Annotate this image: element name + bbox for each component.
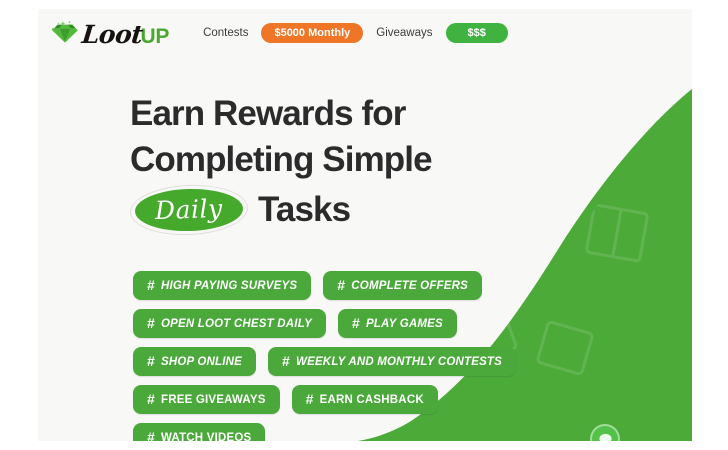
daily-badge: Daily [130,185,248,235]
feature-tag-list: # HIGH PAYING SURVEYS # COMPLETE OFFERS … [133,271,563,441]
nav-link-contests[interactable]: Contests [203,27,248,39]
chat-widget-button[interactable] [590,424,620,441]
tag-weekly-and-monthly-contests[interactable]: # WEEKLY AND MONTHLY CONTESTS [268,347,516,376]
tag-open-loot-chest-daily[interactable]: # OPEN LOOT CHEST DAILY [133,309,326,338]
tag-label: SHOP ONLINE [161,356,242,368]
brand-logo[interactable]: Loot UP [50,19,169,48]
tag-label: PLAY GAMES [366,318,443,330]
tag-free-giveaways[interactable]: # FREE GIVEAWAYS [133,385,280,414]
headline-line-1: Earn Rewards for [130,91,560,137]
page-title: Earn Rewards for Completing Simple Daily… [130,91,560,235]
tag-complete-offers[interactable]: # COMPLETE OFFERS [323,271,482,300]
tag-watch-videos[interactable]: # WATCH VIDEOS [133,423,265,441]
hash-icon: # [337,277,345,293]
tag-label: WATCH VIDEOS [161,432,251,442]
tag-label: HIGH PAYING SURVEYS [161,280,297,292]
tag-earn-cashback[interactable]: # EARN CASHBACK [292,385,438,414]
site-navbar: Loot UP Contests $5000 Monthly Giveaways… [38,9,692,57]
tag-play-games[interactable]: # PLAY GAMES [338,309,457,338]
hash-icon: # [147,315,155,331]
tag-high-paying-surveys[interactable]: # HIGH PAYING SURVEYS [133,271,311,300]
headline-line-3: Daily Tasks [130,185,560,235]
hash-icon: # [147,353,155,369]
page-content: Loot UP Contests $5000 Monthly Giveaways… [38,9,692,441]
nav-links: Contests $5000 Monthly Giveaways $$$ [203,23,508,43]
tag-shop-online[interactable]: # SHOP ONLINE [133,347,256,376]
tag-label: EARN CASHBACK [320,394,424,406]
headline-line-2: Completing Simple [130,137,560,183]
chat-bubble-icon [598,432,613,442]
brand-name-up: UP [140,25,169,49]
nav-pill-monthly-prize[interactable]: $5000 Monthly [261,23,363,43]
brand-name-loot: Loot [80,20,144,49]
hash-icon: # [282,353,290,369]
hash-icon: # [306,391,314,407]
hash-icon: # [147,277,155,293]
daily-badge-label: Daily [154,186,223,234]
tag-label: WEEKLY AND MONTHLY CONTESTS [296,356,502,368]
nav-pill-money[interactable]: $$$ [446,23,508,43]
tag-label: FREE GIVEAWAYS [161,394,266,406]
tag-label: COMPLETE OFFERS [351,280,468,292]
hash-icon: # [147,429,155,441]
headline-tasks-word: Tasks [258,187,350,233]
hash-icon: # [352,315,360,331]
tag-label: OPEN LOOT CHEST DAILY [161,318,312,330]
hash-icon: # [147,391,155,407]
browser-viewport: Loot UP Contests $5000 Monthly Giveaways… [0,0,728,450]
hero-section: Earn Rewards for Completing Simple Daily… [130,91,560,235]
nav-link-giveaways[interactable]: Giveaways [376,27,432,39]
brand-wordmark: Loot UP [82,20,169,49]
gem-diamond-icon [50,20,80,46]
